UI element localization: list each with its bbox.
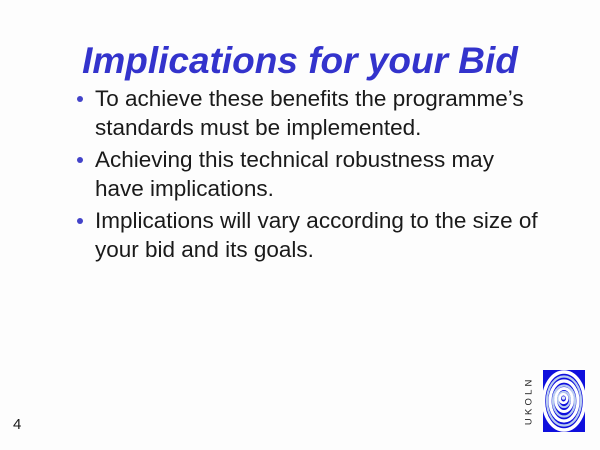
list-item-text: Achieving this technical robustness may … — [95, 147, 494, 201]
ukoln-wordmark-text: UKOLN — [524, 377, 534, 426]
page-title: Implications for your Bid — [0, 39, 600, 83]
bullet-dot-icon — [77, 218, 83, 224]
ukoln-logo: UKOLN — [515, 367, 585, 433]
ukoln-concentric-rings-icon — [543, 370, 585, 432]
list-item: Achieving this technical robustness may … — [72, 146, 542, 203]
bullet-dot-icon — [77, 157, 83, 163]
presentation-slide: Implications for your Bid To achieve the… — [0, 0, 600, 450]
list-item-text: To achieve these benefits the programme’… — [95, 86, 524, 140]
list-item: To achieve these benefits the programme’… — [72, 85, 542, 142]
list-item: Implications will vary according to the … — [72, 207, 542, 264]
page-number: 4 — [13, 416, 21, 433]
bullet-dot-icon — [77, 96, 83, 102]
bullet-list: To achieve these benefits the programme’… — [72, 85, 542, 268]
list-item-text: Implications will vary according to the … — [95, 208, 538, 262]
ukoln-wordmark: UKOLN — [521, 369, 537, 433]
